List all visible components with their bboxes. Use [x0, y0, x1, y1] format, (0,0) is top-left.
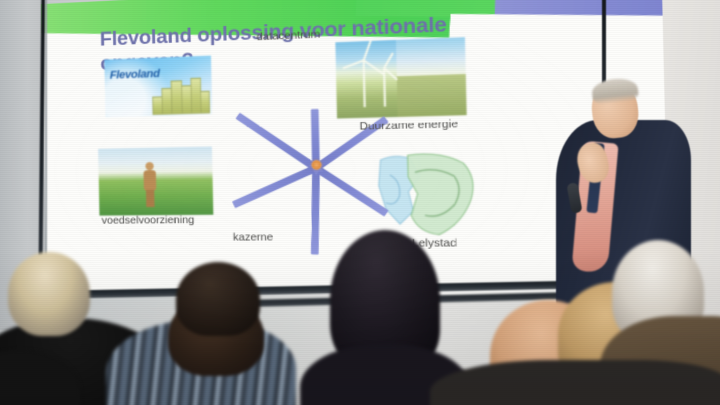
screen-frame-right: [602, 0, 606, 88]
presentation-photo: Flevoland oplossing voor nationale opgav…: [0, 0, 720, 405]
spoke-arrow-voedsel: [232, 165, 318, 208]
spoke-arrow-lelystad: [314, 165, 389, 217]
label-duurzame-energie: Duurzame energie: [359, 118, 458, 133]
label-kazerne: kazerne: [233, 231, 273, 244]
label-datacentrum: datacentrum: [256, 28, 320, 43]
audience-shoulders-bottom-right: [430, 360, 720, 405]
label-voedselvoorziening: voedselvoorziening: [101, 214, 194, 227]
diagram-hub: [311, 160, 321, 170]
spoke-arrow-woningbouw: [235, 113, 318, 171]
audience-head-blonde-left: [8, 252, 90, 336]
spoke-arrow-kazerne: [311, 168, 320, 255]
audience-head-dark-curly: [176, 262, 260, 336]
screen-frame-left-highlight: [45, 0, 47, 256]
